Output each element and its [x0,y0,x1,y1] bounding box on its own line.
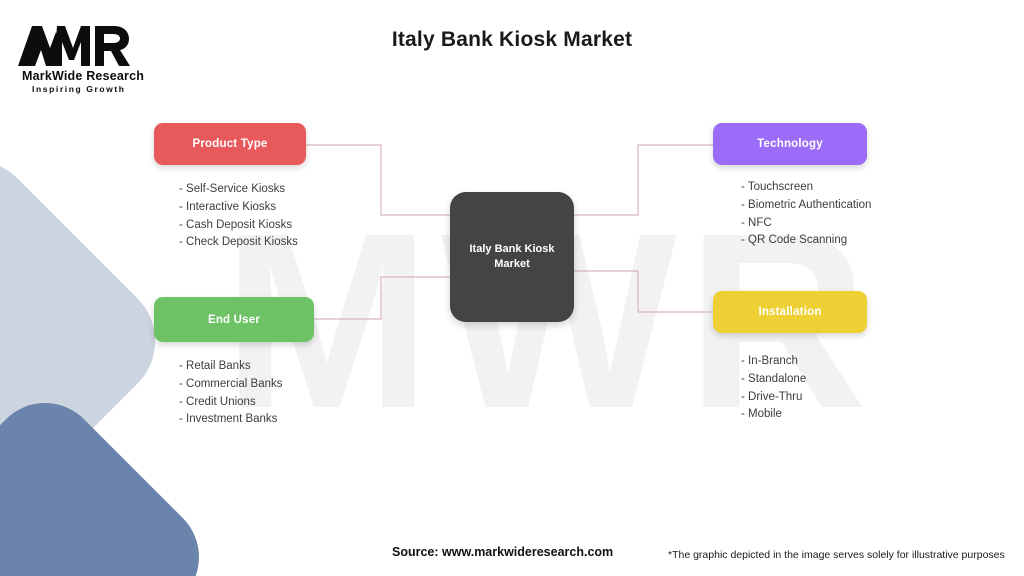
category-list-installation: - In-Branch - Standalone - Drive-Thru - … [713,353,867,424]
list-item: - Investment Banks [179,411,314,429]
list-item: - Cash Deposit Kiosks [179,217,306,235]
list-item: - Commercial Banks [179,376,314,394]
category-title-technology: Technology [757,138,823,150]
list-item: - Standalone [741,371,867,389]
center-node[interactable]: Italy Bank Kiosk Market [450,192,574,322]
category-title-product-type: Product Type [192,138,267,150]
category-installation: Installation - In-Branch - Standalone - … [713,291,867,424]
category-header-product-type[interactable]: Product Type [154,123,306,165]
category-header-installation[interactable]: Installation [713,291,867,333]
category-list-technology: - Touchscreen - Biometric Authentication… [713,179,871,250]
list-item: - Interactive Kiosks [179,199,306,217]
list-item: - NFC [741,215,871,233]
footer-disclaimer: *The graphic depicted in the image serve… [668,549,1005,561]
list-item: - In-Branch [741,353,867,371]
category-list-end-user: - Retail Banks - Commercial Banks - Cred… [154,358,314,429]
list-item: - Biometric Authentication [741,197,871,215]
center-node-label: Italy Bank Kiosk Market [450,242,574,272]
list-item: - Check Deposit Kiosks [179,234,306,252]
list-item: - Credit Unions [179,394,314,412]
category-technology: Technology - Touchscreen - Biometric Aut… [713,123,871,250]
footer-source[interactable]: Source: www.markwideresearch.com [392,545,613,559]
list-item: - Retail Banks [179,358,314,376]
list-item: - Drive-Thru [741,389,867,407]
category-end-user: End User - Retail Banks - Commercial Ban… [154,297,314,429]
list-item: - Touchscreen [741,179,871,197]
category-product-type: Product Type - Self-Service Kiosks - Int… [154,123,306,252]
category-title-end-user: End User [208,314,260,326]
category-list-product-type: - Self-Service Kiosks - Interactive Kios… [154,181,306,252]
category-header-technology[interactable]: Technology [713,123,867,165]
infographic-canvas: MWR MarkWide Research Inspiring Growth I… [0,0,1024,576]
list-item: - Mobile [741,406,867,424]
category-title-installation: Installation [758,306,821,318]
list-item: - Self-Service Kiosks [179,181,306,199]
list-item: - QR Code Scanning [741,232,871,250]
category-header-end-user[interactable]: End User [154,297,314,342]
